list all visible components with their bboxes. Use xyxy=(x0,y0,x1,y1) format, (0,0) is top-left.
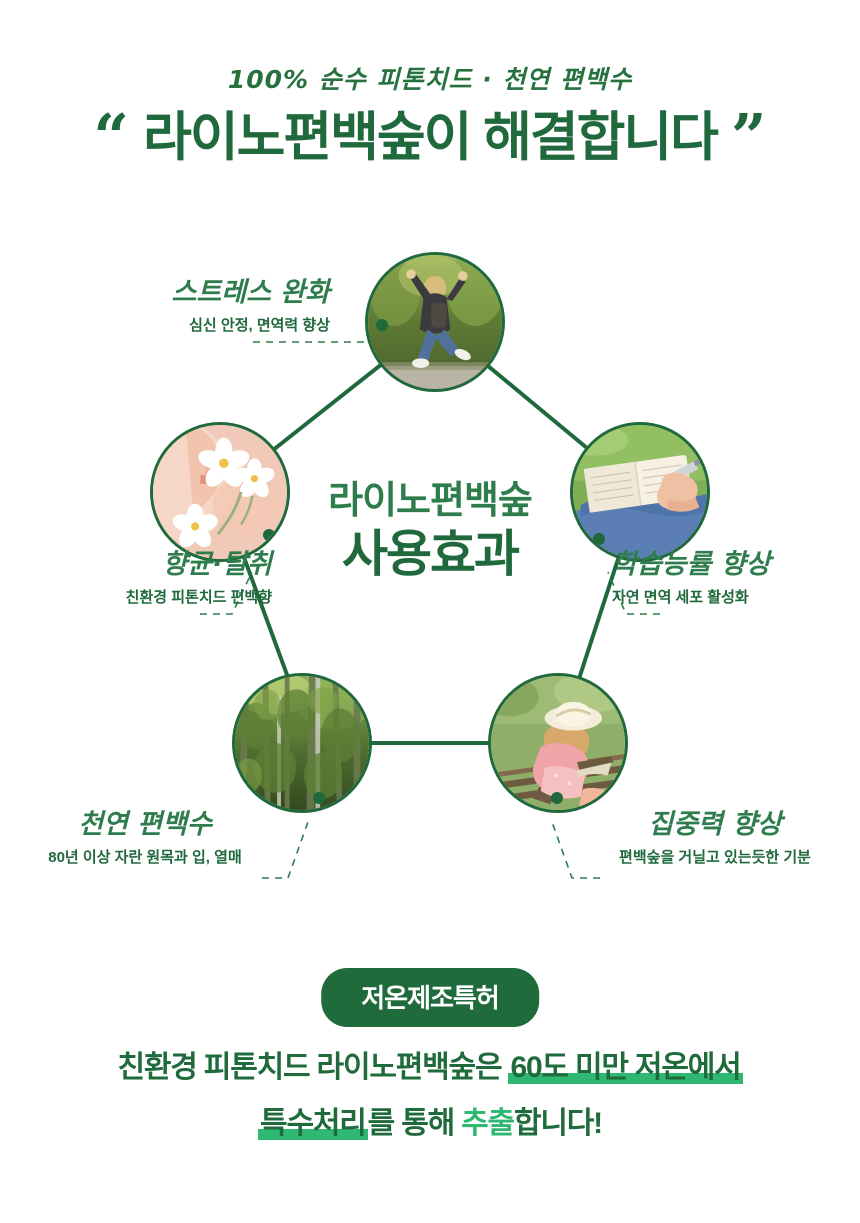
label-cypress-head: 천연 편백수 xyxy=(0,802,290,841)
label-antibac-head: 향균·탈취 xyxy=(0,542,272,581)
label-cypress: 천연 편백수 80년 이상 자란 원목과 입, 열매 xyxy=(0,802,290,867)
footer-line1-prefix: 친환경 피톤치드 라이노편백숲은 xyxy=(117,1051,508,1084)
person-jumping-forest-photo xyxy=(368,255,502,389)
node-stress[interactable] xyxy=(365,252,505,392)
infographic-page: 100% 순수 피톤치드 · 천연 편백수 “ 라이노편백숲이 해결합니다 ” xyxy=(0,0,860,1223)
patent-badge: 저온제조특허 xyxy=(321,968,539,1027)
header-title-row: “ 라이노편백숲이 해결합니다 ” xyxy=(0,108,860,167)
dot-learning xyxy=(593,533,605,545)
footer-line2-accent: 추출 xyxy=(461,1107,514,1140)
label-focus: 집중력 향상 편백숲을 거닐고 있는듯한 기분 xyxy=(570,802,860,867)
quote-close-icon: ” xyxy=(731,108,767,167)
label-focus-sub: 편백숲을 거닐고 있는듯한 기분 xyxy=(570,846,860,867)
dot-cypress xyxy=(313,792,325,804)
dot-stress xyxy=(376,319,388,331)
dot-focus xyxy=(551,792,563,804)
cypress-forest-photo xyxy=(235,676,369,810)
label-antibac: 향균·탈취 친환경 피톤치드 편백향 xyxy=(0,542,272,607)
label-focus-head: 집중력 향상 xyxy=(570,802,860,841)
footer-line-1: 친환경 피톤치드 라이노편백숲은 60도 미만 저온에서 xyxy=(0,1040,860,1096)
label-stress: 스트레스 완화 심신 안정, 면역력 향상 xyxy=(30,270,330,335)
node-focus[interactable] xyxy=(488,673,628,813)
footer-block: 친환경 피톤치드 라이노편백숲은 60도 미만 저온에서 특수처리를 통해 추출… xyxy=(0,1040,860,1151)
footer-line2-mid: 를 통해 xyxy=(368,1107,461,1140)
label-cypress-sub: 80년 이상 자란 원목과 입, 열매 xyxy=(0,846,290,867)
footer-line1-highlight: 60도 미만 저온에서 xyxy=(508,1051,742,1084)
node-antibac[interactable] xyxy=(150,422,290,562)
girl-reading-book-photo xyxy=(491,676,625,810)
footer-line-2: 특수처리를 통해 추출합니다! xyxy=(0,1096,860,1152)
label-antibac-sub: 친환경 피톤치드 편백향 xyxy=(0,586,272,607)
quote-open-icon: “ xyxy=(93,108,129,167)
label-learning: 학습능률 향상 자연 면역 세포 활성화 xyxy=(612,542,860,607)
header-eyebrow: 100% 순수 피톤치드 · 천연 편백수 xyxy=(0,60,860,96)
node-cypress[interactable] xyxy=(232,673,372,813)
page-title: 라이노편백숲이 해결합니다 xyxy=(143,108,717,167)
label-stress-head: 스트레스 완화 xyxy=(30,270,330,309)
footer-line2-highlight: 특수처리 xyxy=(258,1107,368,1140)
label-stress-sub: 심신 안정, 면역력 향상 xyxy=(30,314,330,335)
label-learning-sub: 자연 면역 세포 활성화 xyxy=(612,586,860,607)
node-learning[interactable] xyxy=(570,422,710,562)
footer-line2-suffix: 합니다! xyxy=(514,1107,602,1140)
label-learning-head: 학습능률 향상 xyxy=(612,542,860,581)
dot-antibac xyxy=(263,529,275,541)
pentagon-diagram: 라이노편백숲 사용효과 스트레스 완화 심신 안정, 면역력 향상 향균·탈취 … xyxy=(0,230,860,930)
